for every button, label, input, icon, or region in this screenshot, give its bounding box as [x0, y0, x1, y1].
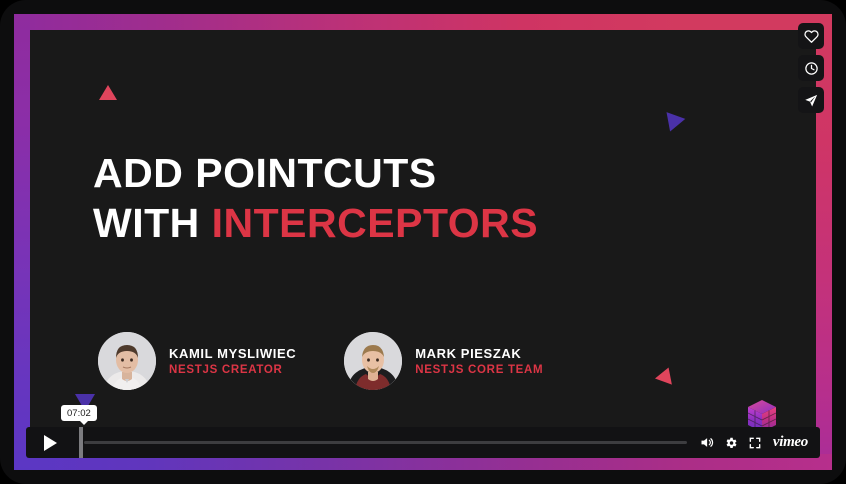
video-surface[interactable]: ADD POINTCUTS WITH INTERCEPTORS — [30, 30, 816, 454]
speaker-text: KAMIL MYSLIWIEC NESTJS CREATOR — [169, 346, 296, 376]
speaker-role: NESTJS CORE TEAM — [415, 364, 543, 376]
share-paper-plane-icon — [804, 93, 819, 108]
slide-title-line-1: ADD POINTCUTS — [93, 148, 538, 198]
avatar — [344, 332, 402, 390]
play-button[interactable] — [26, 427, 72, 458]
play-icon — [44, 435, 57, 451]
triangle-blue-top-right-icon — [661, 112, 686, 135]
gradient-border-top — [14, 14, 832, 30]
progress-track[interactable] — [84, 441, 687, 444]
speaker-name: MARK PIESZAK — [415, 346, 543, 361]
slide-title-line-2-accent: INTERCEPTORS — [212, 200, 538, 246]
player-control-bar: 07:02 — [26, 427, 820, 458]
like-button[interactable] — [798, 23, 824, 49]
gradient-border-left — [14, 14, 30, 470]
slide-title: ADD POINTCUTS WITH INTERCEPTORS — [93, 148, 538, 248]
avatar-mark-image — [344, 332, 402, 390]
speaker-name: KAMIL MYSLIWIEC — [169, 346, 296, 361]
speaker-list: KAMIL MYSLIWIEC NESTJS CREATOR — [98, 332, 543, 390]
progress-handle[interactable]: 07:02 — [79, 427, 83, 458]
fullscreen-icon — [748, 436, 762, 450]
slide-title-line-2: WITH INTERCEPTORS — [93, 198, 538, 248]
video-player-frame: ADD POINTCUTS WITH INTERCEPTORS — [0, 0, 846, 484]
settings-button[interactable] — [724, 436, 738, 450]
avatar-kamil-image — [98, 332, 156, 390]
slide-title-line-2-plain: WITH — [93, 200, 212, 246]
gear-icon — [724, 436, 738, 450]
speaker-item: MARK PIESZAK NESTJS CORE TEAM — [344, 332, 543, 390]
action-button-stack — [798, 23, 824, 113]
vimeo-logo[interactable]: vimeo — [773, 434, 808, 451]
speaker-item: KAMIL MYSLIWIEC NESTJS CREATOR — [98, 332, 296, 390]
progress-bar[interactable]: 07:02 — [72, 427, 695, 458]
watch-later-button[interactable] — [798, 55, 824, 81]
avatar — [98, 332, 156, 390]
heart-icon — [804, 29, 819, 44]
volume-icon — [699, 435, 714, 450]
share-button[interactable] — [798, 87, 824, 113]
clock-icon — [804, 61, 819, 76]
speaker-role: NESTJS CREATOR — [169, 364, 296, 376]
triangle-red-top-left-icon — [99, 85, 117, 100]
right-controls: vimeo — [695, 427, 820, 458]
triangle-red-right-icon — [655, 364, 677, 384]
fullscreen-button[interactable] — [748, 436, 762, 450]
time-tooltip: 07:02 — [61, 405, 97, 421]
volume-button[interactable] — [699, 435, 714, 450]
speaker-text: MARK PIESZAK NESTJS CORE TEAM — [415, 346, 543, 376]
